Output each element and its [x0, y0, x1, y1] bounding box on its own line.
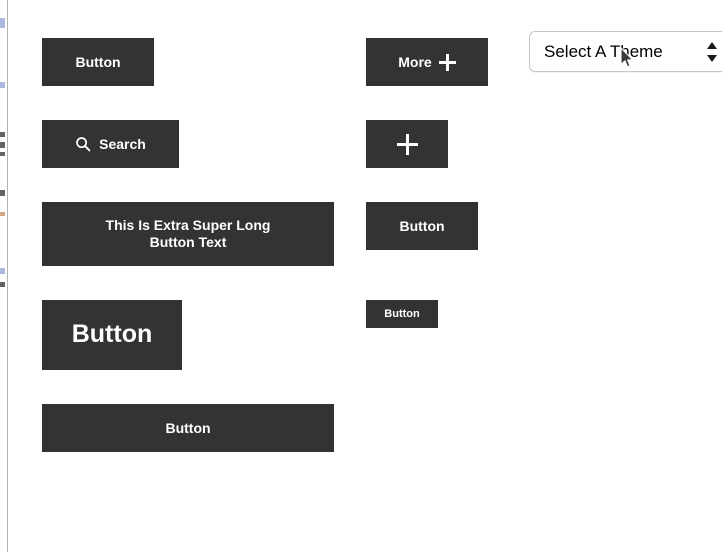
arrow-up-icon: [707, 42, 717, 49]
sliver-artifact: [0, 18, 5, 28]
small-button[interactable]: Button: [366, 300, 438, 328]
large-button-label: Button: [72, 320, 153, 350]
sliver-artifact: [0, 152, 5, 156]
sliver-artifact: [0, 212, 5, 216]
plus-icon: [439, 54, 456, 71]
up-down-arrows-icon[interactable]: [706, 40, 719, 64]
large-button[interactable]: Button: [42, 300, 182, 370]
more-button-label: More: [398, 54, 431, 71]
add-icon-button[interactable]: [366, 120, 448, 168]
plus-icon: [397, 134, 418, 155]
small-button-label: Button: [384, 308, 419, 321]
arrow-down-icon: [707, 55, 717, 62]
search-button[interactable]: Search: [42, 120, 179, 168]
sliver-artifact: [0, 282, 5, 287]
theme-select[interactable]: Select A Theme: [529, 31, 722, 72]
sliver-artifact: [0, 132, 5, 137]
search-button-label: Search: [99, 136, 146, 153]
search-icon: [75, 136, 91, 152]
demo-page: Button Search This Is Extra Super Long B…: [9, 0, 722, 552]
sliver-artifact: [0, 82, 5, 88]
sliver-artifact: [0, 268, 5, 274]
default-button[interactable]: Button: [42, 38, 154, 86]
full-width-button-label: Button: [165, 420, 210, 437]
sliver-artifact: [0, 142, 5, 148]
secondary-button-label: Button: [399, 218, 444, 235]
secondary-button[interactable]: Button: [366, 202, 478, 250]
full-width-button[interactable]: Button: [42, 404, 334, 452]
sliver-artifact: [0, 190, 5, 196]
theme-select-value: Select A Theme: [544, 42, 700, 62]
long-text-button-label: This Is Extra Super Long Button Text: [106, 217, 271, 250]
more-button[interactable]: More: [366, 38, 488, 86]
default-button-label: Button: [75, 54, 120, 71]
theme-select-wrapper: Select A Theme: [529, 31, 722, 72]
long-text-button[interactable]: This Is Extra Super Long Button Text: [42, 202, 334, 266]
background-window-sliver: [0, 0, 8, 552]
